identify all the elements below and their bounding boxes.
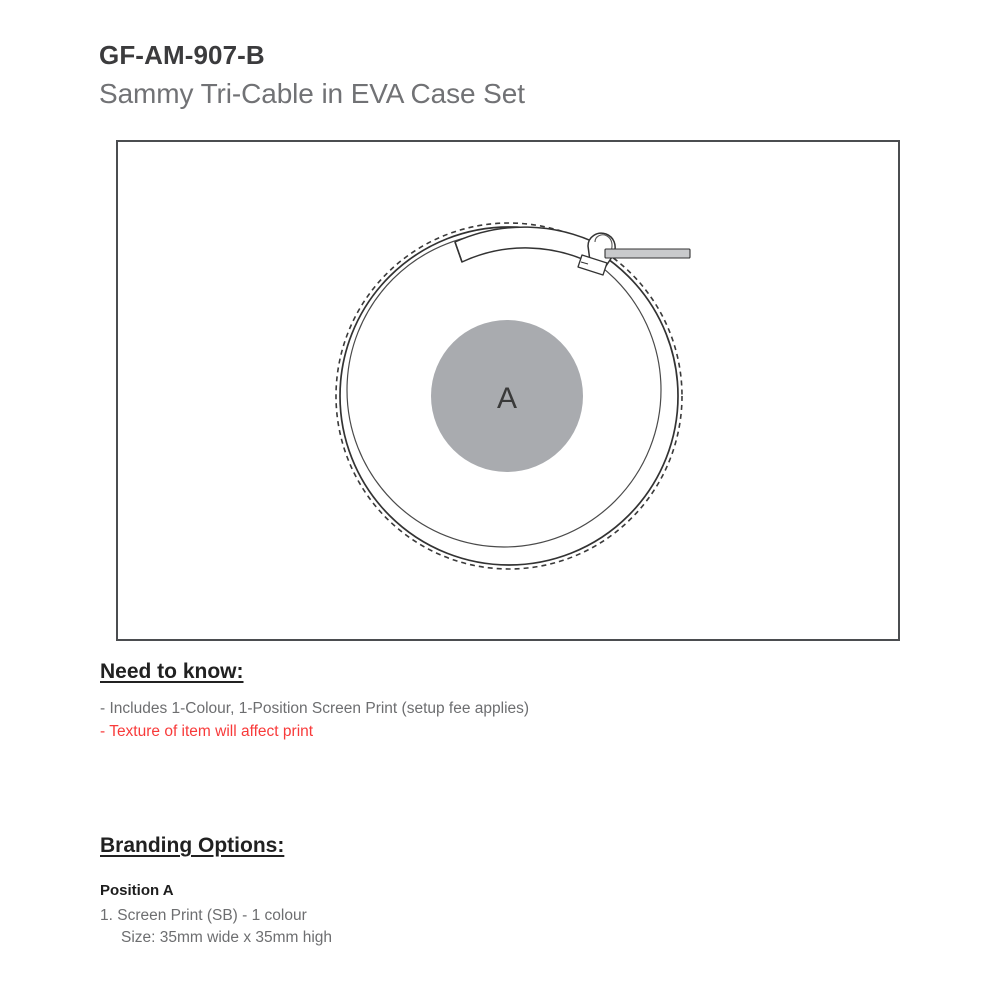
branding-position-method: 1. Screen Print (SB) - 1 colour <box>100 905 900 927</box>
branding-position-block: Position A 1. Screen Print (SB) - 1 colo… <box>100 880 900 949</box>
need-to-know-heading: Need to know: <box>100 660 244 684</box>
artwork-frame: A <box>116 140 900 641</box>
branding-options-heading: Branding Options: <box>100 834 284 858</box>
header: GF-AM-907-B Sammy Tri-Cable in EVA Case … <box>99 41 919 110</box>
need-to-know-section: Need to know: - Includes 1-Colour, 1-Pos… <box>100 660 900 744</box>
branding-position-title: Position A <box>100 880 900 903</box>
print-position-marker-a-label: A <box>497 382 517 415</box>
need-to-know-item-alert: - Texture of item will affect print <box>100 721 900 744</box>
branding-position-size: Size: 35mm wide x 35mm high <box>100 927 900 949</box>
page-subtitle-product-name: Sammy Tri-Cable in EVA Case Set <box>99 77 919 111</box>
zipper-pull-tab <box>605 249 690 258</box>
page-title-sku: GF-AM-907-B <box>99 41 919 71</box>
product-line-drawing: A <box>118 142 898 639</box>
product-spec-sheet: GF-AM-907-B Sammy Tri-Cable in EVA Case … <box>0 0 1000 1000</box>
need-to-know-list: - Includes 1-Colour, 1-Position Screen P… <box>100 698 900 744</box>
need-to-know-item: - Includes 1-Colour, 1-Position Screen P… <box>100 698 900 721</box>
branding-options-section: Branding Options: Position A 1. Screen P… <box>100 834 900 949</box>
